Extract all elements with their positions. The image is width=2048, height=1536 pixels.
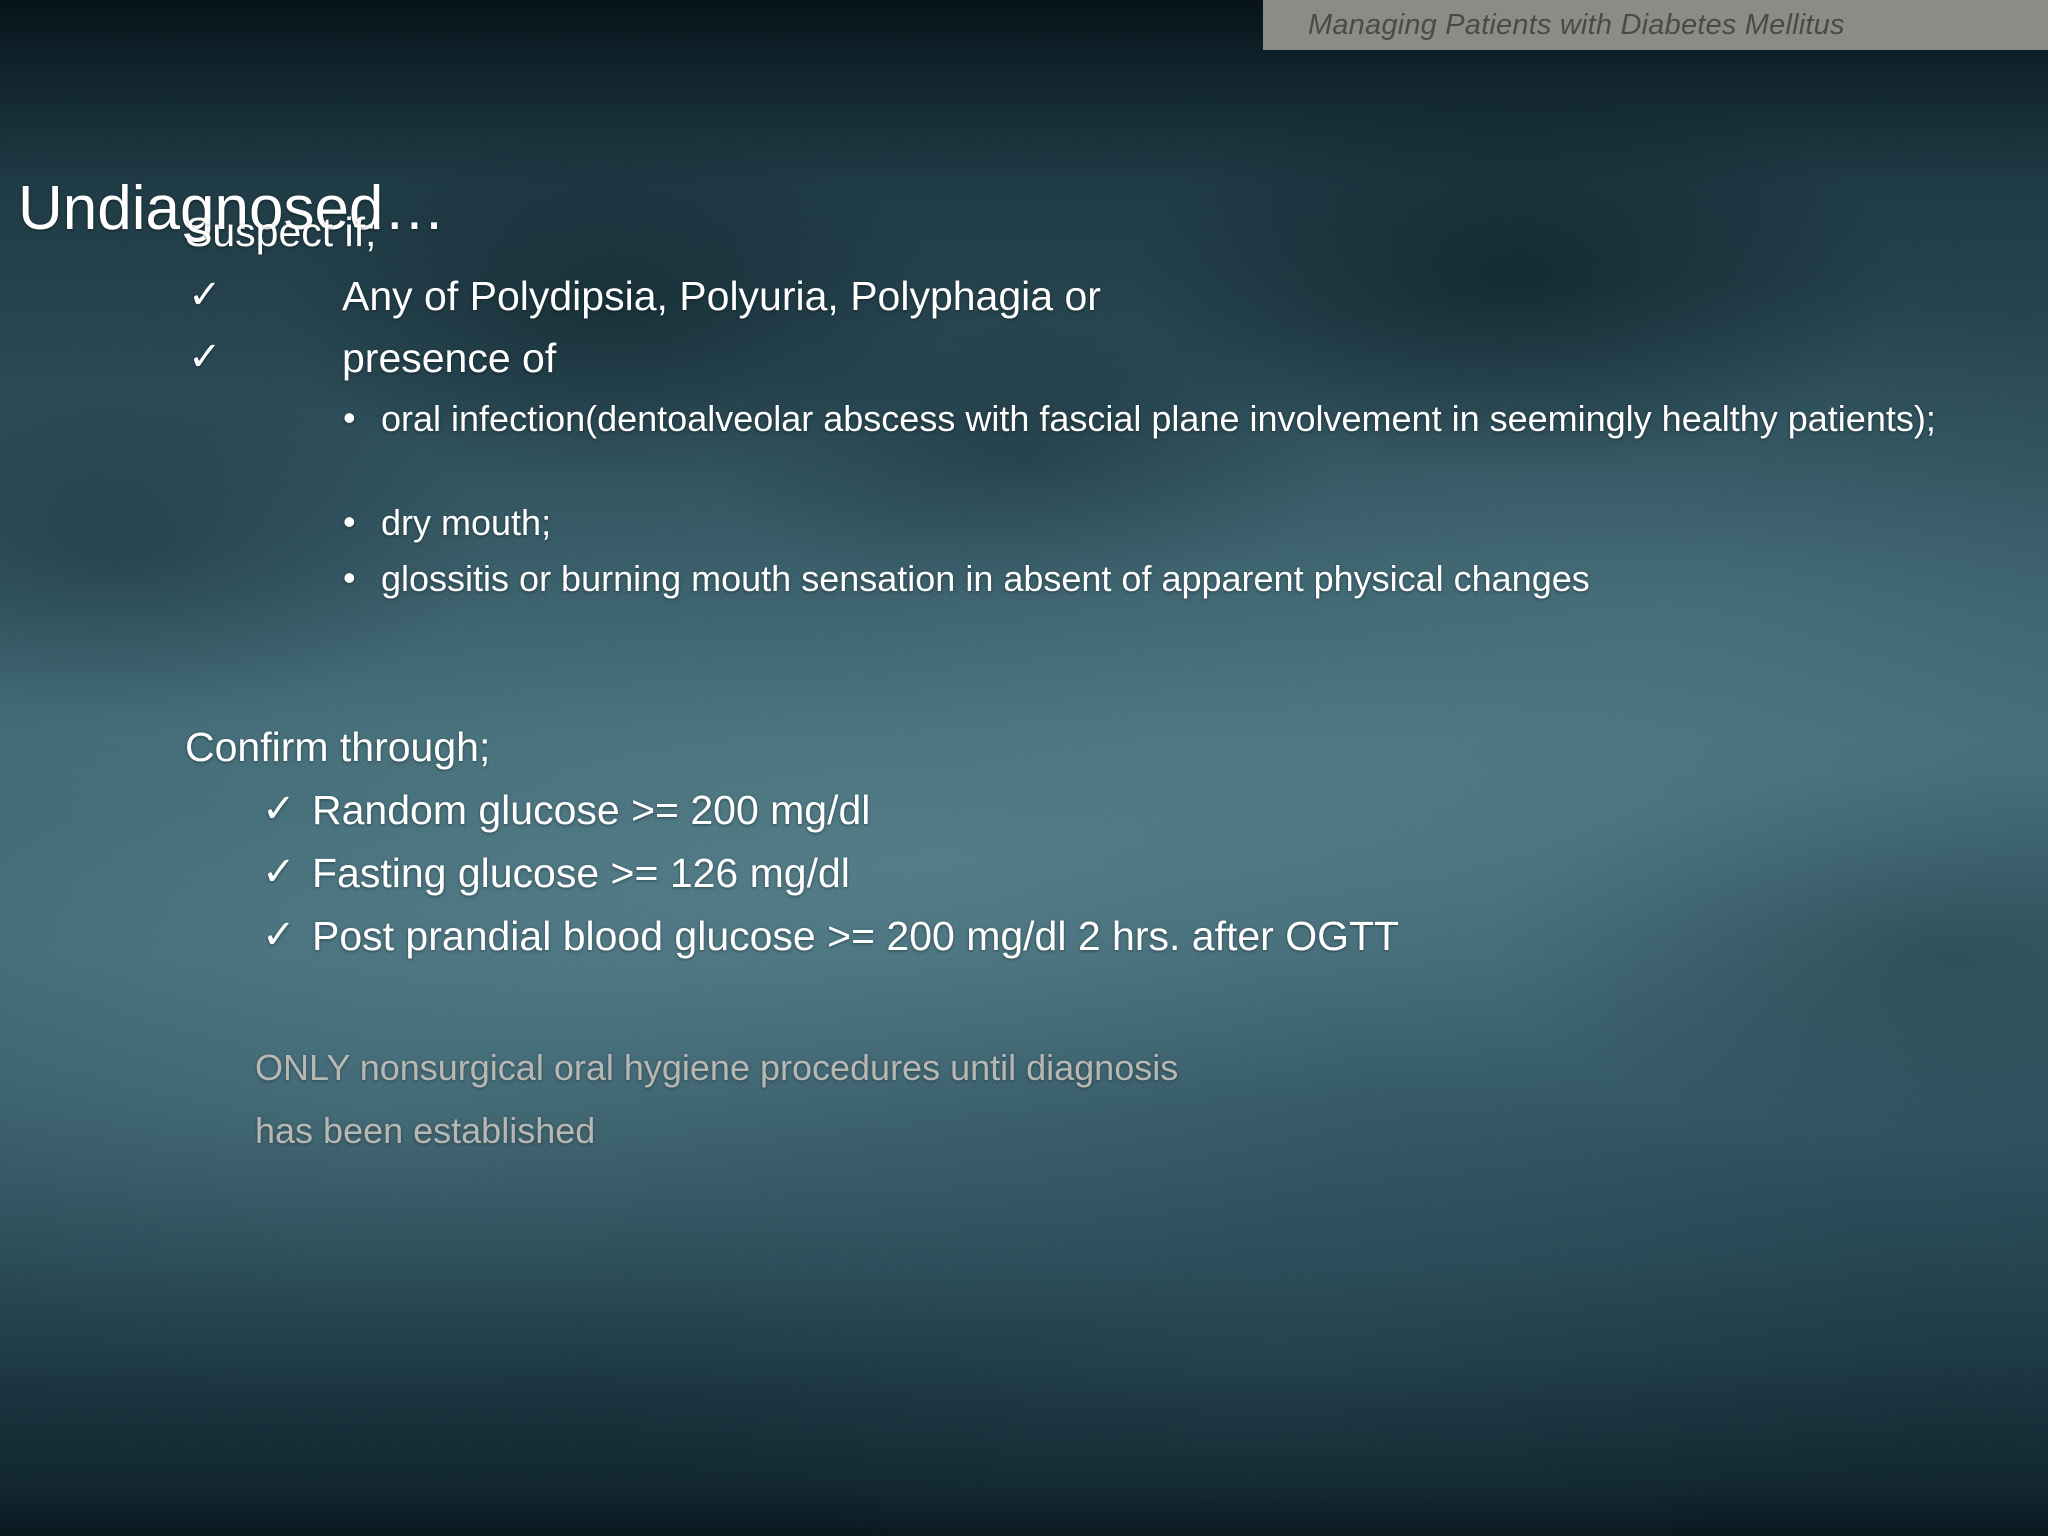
note-line-1: ONLY nonsurgical oral hygiene procedures…: [255, 1037, 1178, 1099]
bullet-icon: •: [343, 396, 381, 440]
confirm-check-label-2: Fasting glucose >= 126 mg/dl: [298, 852, 850, 895]
suspect-sub-bullet-label-3: glossitis or burning mouth sensation in …: [381, 556, 1590, 603]
confirm-check-row-1: ✓ Random glucose >= 200 mg/dl: [262, 789, 870, 832]
suspect-check-label-2: presence of: [222, 337, 556, 380]
bullet-icon: •: [343, 500, 381, 544]
confirm-check-row-2: ✓ Fasting glucose >= 126 mg/dl: [262, 852, 850, 895]
note-line-2: has been established: [255, 1100, 595, 1162]
slide-canvas: Managing Patients with Diabetes Mellitus…: [0, 0, 2048, 1536]
header-banner-title: Managing Patients with Diabetes Mellitus: [1263, 9, 1845, 42]
suspect-heading: Suspect if;: [185, 212, 376, 253]
confirm-check-label-3: Post prandial blood glucose >= 200 mg/dl…: [298, 915, 1399, 958]
confirm-heading: Confirm through;: [185, 727, 490, 768]
suspect-check-label-1: Any of Polydipsia, Polyuria, Polyphagia …: [222, 275, 1101, 318]
check-icon: ✓: [188, 275, 222, 315]
suspect-sub-bullet-label-1: oral infection(dentoalveolar abscess wit…: [381, 396, 1936, 443]
check-icon: ✓: [262, 789, 298, 829]
confirm-check-row-3: ✓ Post prandial blood glucose >= 200 mg/…: [262, 915, 1399, 958]
suspect-sub-bullet-row-2: • dry mouth;: [343, 500, 1963, 547]
suspect-sub-bullet-row-3: • glossitis or burning mouth sensation i…: [343, 556, 1963, 603]
header-banner: Managing Patients with Diabetes Mellitus: [1263, 0, 2048, 50]
check-icon: ✓: [188, 337, 222, 377]
suspect-check-row-1: ✓ Any of Polydipsia, Polyuria, Polyphagi…: [188, 275, 1101, 318]
confirm-check-label-1: Random glucose >= 200 mg/dl: [298, 789, 870, 832]
suspect-sub-bullet-label-2: dry mouth;: [381, 500, 551, 547]
suspect-sub-bullet-row-1: • oral infection(dentoalveolar abscess w…: [343, 396, 1963, 443]
check-icon: ✓: [262, 852, 298, 892]
check-icon: ✓: [262, 915, 298, 955]
suspect-check-row-2: ✓ presence of: [188, 337, 556, 380]
bullet-icon: •: [343, 556, 381, 600]
